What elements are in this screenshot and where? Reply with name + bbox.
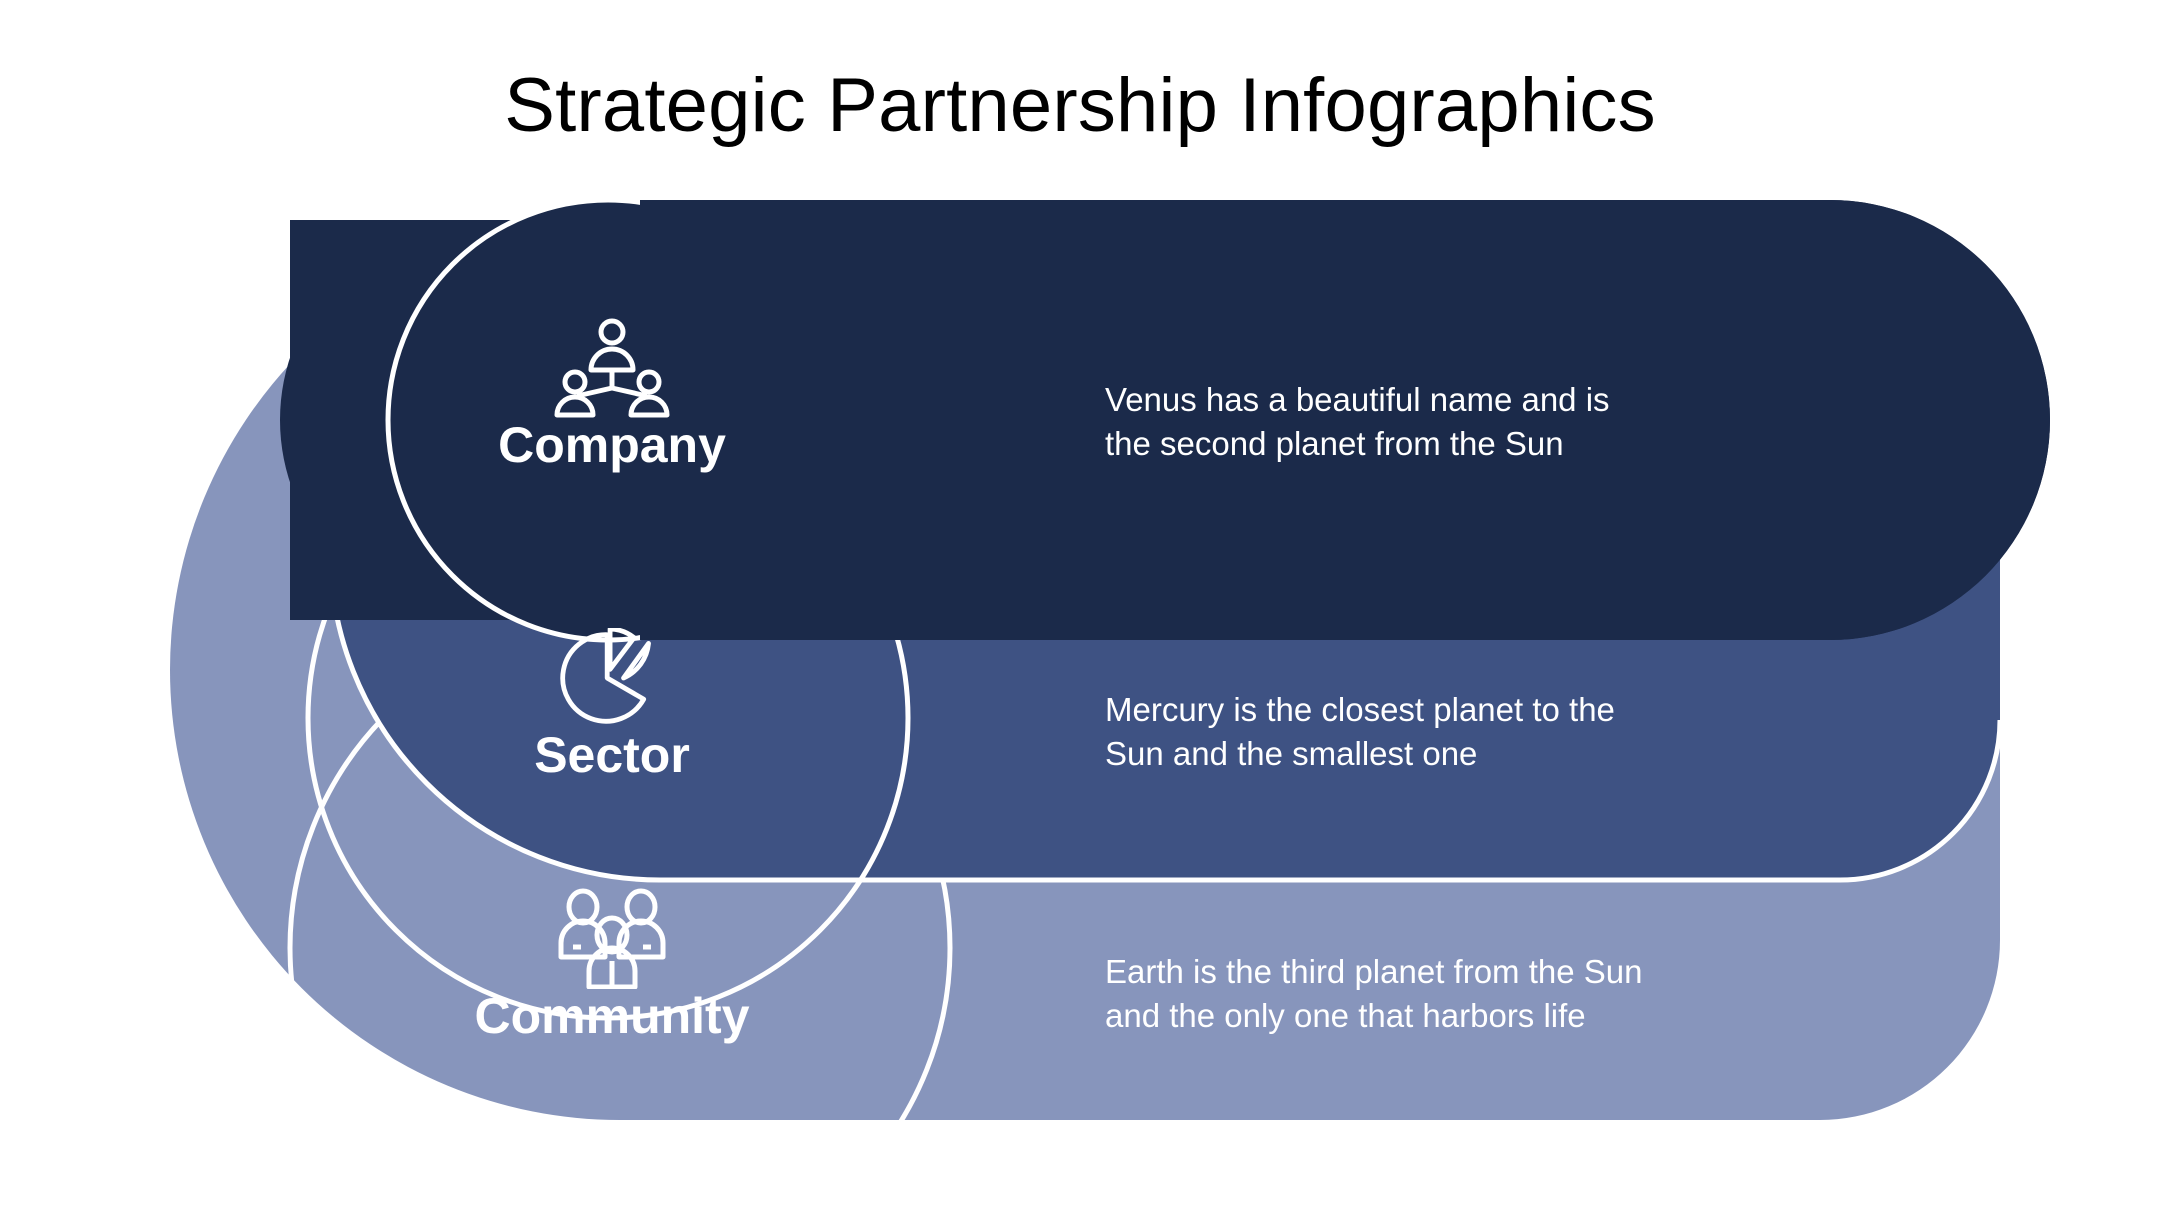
- org-chart-people-icon: [412, 318, 812, 418]
- row-community-description-line-1: Earth is the third planet from the Sun: [1105, 950, 1745, 994]
- row-sector-description-line-1: Mercury is the closest planet to the: [1105, 688, 1745, 732]
- band-stack: [0, 0, 2160, 1215]
- row-company-description: Venus has a beautiful name and is the se…: [1105, 378, 1745, 466]
- row-sector-icon-column: Sector: [412, 628, 812, 782]
- band-shape-company[interactable]: [0, 0, 2160, 1215]
- infographic-slide: Strategic Partnership Infographics: [0, 0, 2160, 1215]
- row-company-label: Company: [412, 418, 812, 472]
- row-company-description-line-1: Venus has a beautiful name and is: [1105, 378, 1745, 422]
- row-sector-description: Mercury is the closest planet to the Sun…: [1105, 688, 1745, 776]
- row-company-description-line-2: the second planet from the Sun: [1105, 422, 1745, 466]
- row-community-description-line-2: and the only one that harbors life: [1105, 994, 1745, 1038]
- row-sector-label: Sector: [412, 728, 812, 782]
- row-company-icon-column: Company: [412, 318, 812, 472]
- row-community-description: Earth is the third planet from the Sun a…: [1105, 950, 1745, 1038]
- group-of-people-icon: [412, 885, 812, 989]
- pie-chart-icon: [412, 628, 812, 728]
- row-sector-description-line-2: Sun and the smallest one: [1105, 732, 1745, 776]
- row-community-label: Community: [462, 989, 762, 1043]
- row-community-icon-column: Community: [412, 885, 812, 1043]
